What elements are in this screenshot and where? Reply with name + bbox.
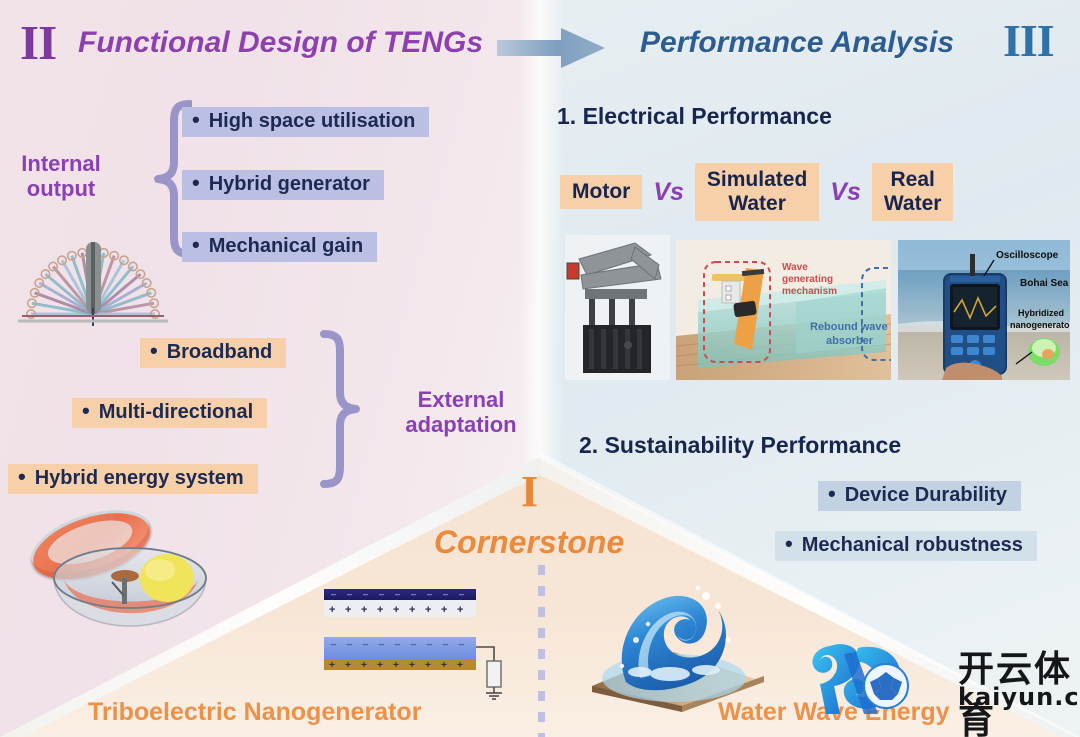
svg-text:+: + xyxy=(377,660,383,671)
base-dashed-divider xyxy=(538,565,545,737)
group-label-line1: Internal xyxy=(6,152,116,177)
triboelectric-layer-diagram: ––– ––– ––– +++ +++ +++ ––– ––– ––– +++ … xyxy=(318,585,518,700)
chip-label: Hybrid energy system xyxy=(35,467,244,490)
svg-text:+: + xyxy=(441,660,447,671)
svg-text:–: – xyxy=(427,639,432,649)
svg-text:–: – xyxy=(427,589,432,599)
svg-text:+: + xyxy=(345,660,351,671)
svg-text:–: – xyxy=(411,639,416,649)
section-heading-electrical-performance: 1. Electrical Performance xyxy=(557,103,832,130)
box-line2: Water xyxy=(707,192,807,216)
svg-text:–: – xyxy=(363,589,368,599)
photo-label-rebound-l2: absorber xyxy=(826,335,874,347)
photo-label-rebound-l1: Rebound wave xyxy=(810,321,888,333)
rebound-wave-absorber-label: Rebound wave absorber xyxy=(806,300,902,364)
kaiyun-logo-icon xyxy=(800,628,960,728)
bullet-dot-icon: • xyxy=(82,411,90,414)
motor-linear-actuator-photo xyxy=(565,235,670,380)
real-sea-field-test-photo: Oscilloscope Bohai Sea Hybridized nanoge… xyxy=(898,240,1070,380)
svg-text:–: – xyxy=(443,589,448,599)
vs-operator-1: Vs xyxy=(653,178,684,207)
svg-text:+: + xyxy=(329,604,335,616)
graphical-abstract: II Functional Design of TENGs Performanc… xyxy=(0,0,1080,737)
svg-text:+: + xyxy=(457,604,463,616)
svg-text:+: + xyxy=(345,604,351,616)
bullet-chip-multi-directional[interactable]: • Multi-directional xyxy=(72,398,267,428)
bullet-chip-high-space-utilisation[interactable]: • High space utilisation xyxy=(182,107,429,137)
bullet-dot-icon: • xyxy=(18,477,26,480)
photo-label-hybridized-l2: nanogenerator xyxy=(1010,320,1070,330)
chip-label: High space utilisation xyxy=(209,110,416,133)
svg-text:+: + xyxy=(441,604,447,616)
chip-label: Mechanical gain xyxy=(209,235,364,258)
svg-text:+: + xyxy=(393,604,399,616)
comparison-box-simulated-water[interactable]: Simulated Water xyxy=(695,163,819,221)
photo-label-wave-gen-l1: Wave xyxy=(782,262,808,273)
svg-text:+: + xyxy=(361,660,367,671)
bullet-chip-mechanical-robustness[interactable]: • Mechanical robustness xyxy=(775,531,1037,561)
svg-text:+: + xyxy=(393,660,399,671)
svg-text:–: – xyxy=(459,589,464,599)
bullet-chip-mechanical-gain[interactable]: • Mechanical gain xyxy=(182,232,377,262)
photo-label-hybridized-l1: Hybridized xyxy=(1018,308,1064,318)
svg-text:+: + xyxy=(377,604,383,616)
photo-label-oscilloscope: Oscilloscope xyxy=(996,250,1059,261)
bullet-chip-broadband[interactable]: • Broadband xyxy=(140,338,286,368)
bullet-chip-hybrid-energy-system[interactable]: • Hybrid energy system xyxy=(8,464,258,494)
chip-label: Device Durability xyxy=(845,484,1007,507)
bullet-dot-icon: • xyxy=(785,544,793,547)
group-label-external-adaptation: External adaptation xyxy=(392,388,530,437)
svg-text:–: – xyxy=(347,639,352,649)
svg-text:+: + xyxy=(425,604,431,616)
svg-text:–: – xyxy=(395,639,400,649)
chip-label: Mechanical robustness xyxy=(802,534,1023,557)
base-panel-title: Cornerstone xyxy=(434,524,624,561)
flow-arrow-icon xyxy=(497,27,607,69)
bullet-chip-device-durability[interactable]: • Device Durability xyxy=(818,481,1021,511)
comparison-box-motor[interactable]: Motor xyxy=(560,175,642,209)
svg-text:+: + xyxy=(361,604,367,616)
svg-text:–: – xyxy=(379,639,384,649)
svg-text:–: – xyxy=(443,639,448,649)
base-caption-triboelectric-nanogenerator: Triboelectric Nanogenerator xyxy=(88,698,421,727)
svg-text:–: – xyxy=(379,589,384,599)
right-brace-external xyxy=(318,330,374,490)
roman-numeral-one: I xyxy=(521,470,537,514)
roman-numeral-two: II xyxy=(20,18,56,67)
chip-label: Hybrid generator xyxy=(209,173,370,196)
svg-text:+: + xyxy=(425,660,431,671)
photo-label-wave-gen-l2: generating xyxy=(782,274,833,285)
svg-text:–: – xyxy=(331,639,336,649)
bullet-dot-icon: • xyxy=(192,245,200,248)
vs-operator-2: Vs xyxy=(830,178,861,207)
fan-array-teng-diagram xyxy=(8,228,178,328)
svg-text:–: – xyxy=(363,639,368,649)
svg-text:+: + xyxy=(409,604,415,616)
roman-numeral-three: III xyxy=(1003,18,1054,64)
bullet-dot-icon: • xyxy=(828,494,836,497)
bullet-chip-hybrid-generator[interactable]: • Hybrid generator xyxy=(182,170,384,200)
box-line1: Simulated xyxy=(707,168,807,192)
svg-text:+: + xyxy=(409,660,415,671)
photo-label-wave-gen-l3: mechanism xyxy=(782,286,837,297)
comparison-row: Motor Vs Simulated Water Vs Real Water xyxy=(560,163,953,221)
water-wave-3d-illustration xyxy=(578,578,768,713)
svg-text:–: – xyxy=(347,589,352,599)
svg-text:+: + xyxy=(329,660,335,671)
photo-label-bohai-sea: Bohai Sea xyxy=(1020,278,1069,289)
chip-label: Broadband xyxy=(167,341,273,364)
comparison-box-real-water[interactable]: Real Water xyxy=(872,163,954,221)
svg-text:–: – xyxy=(459,639,464,649)
bullet-dot-icon: • xyxy=(192,183,200,186)
svg-text:+: + xyxy=(457,660,463,671)
box-line1: Real xyxy=(884,168,942,192)
svg-text:–: – xyxy=(411,589,416,599)
group-label-line2: adaptation xyxy=(392,413,530,438)
watermark-domain-text: kaiyun.com xyxy=(958,683,1080,711)
svg-text:–: – xyxy=(395,589,400,599)
lifebuoy-spherical-teng-photo xyxy=(12,500,224,635)
box-line2: Water xyxy=(884,192,942,216)
chip-label: Multi-directional xyxy=(99,401,253,424)
group-label-internal-output: Internal output xyxy=(6,152,116,201)
group-label-line1: External xyxy=(392,388,530,413)
left-panel-title: Functional Design of TENGs xyxy=(78,26,483,60)
section-heading-sustainability-performance: 2. Sustainability Performance xyxy=(579,432,901,459)
svg-text:–: – xyxy=(331,589,336,599)
bullet-dot-icon: • xyxy=(192,120,200,123)
group-label-line2: output xyxy=(6,177,116,202)
right-panel-title: Performance Analysis xyxy=(640,26,954,60)
bullet-dot-icon: • xyxy=(150,351,158,354)
